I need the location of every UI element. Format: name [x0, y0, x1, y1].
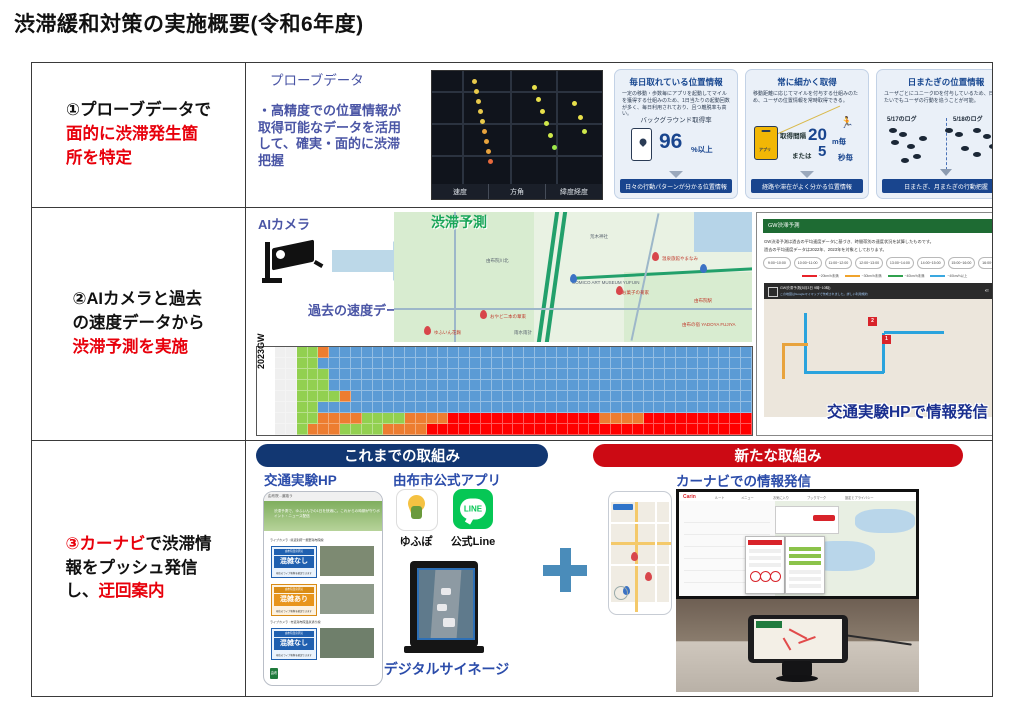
ai-camera-label: AIカメラ [258, 214, 310, 233]
heatmap-cell [654, 424, 665, 435]
heatmap-cell [373, 380, 384, 391]
heatmap-cell [611, 358, 622, 369]
heatmap-cell [405, 424, 416, 435]
heatmap-cell [600, 413, 611, 424]
heatmap-cell [351, 358, 362, 369]
heatmap-cell [405, 358, 416, 369]
heatmap-cell [438, 391, 449, 402]
heatmap-cell [719, 347, 730, 358]
heatmap-cell [362, 369, 373, 380]
heatmap-cell [644, 424, 655, 435]
heatmap-cell [427, 380, 438, 391]
heatmap-cell [470, 391, 481, 402]
heatmap-cell [546, 358, 557, 369]
yufupo-caption: ゆふぽ [386, 533, 446, 549]
heatmap-cell [709, 380, 720, 391]
heatmap-cell [579, 358, 590, 369]
time-slot-4[interactable]: 13:00~14:00 [886, 257, 914, 269]
heatmap-cell [340, 391, 351, 402]
heatmap-cell [427, 369, 438, 380]
heatmap-cell [373, 369, 384, 380]
digital-signage-image [404, 561, 484, 657]
legend-latlon: 緯度経度 [546, 184, 602, 199]
heatmap-cell [741, 380, 752, 391]
map-marker-1[interactable]: 1 [882, 335, 891, 344]
heatmap-cell [492, 402, 503, 413]
heatmap-cell [535, 369, 546, 380]
carnav-brand: Carin [683, 494, 696, 500]
heatmap-cell [405, 380, 416, 391]
popup-panel-right [785, 536, 825, 594]
heatmap-cell [589, 369, 600, 380]
heatmap-cell [470, 347, 481, 358]
heatmap-cell [633, 402, 644, 413]
heatmap-cell [741, 391, 752, 402]
app-phone-icon: アプリ [754, 126, 778, 160]
share-icon[interactable]: ⇚ [985, 288, 989, 294]
row2-label-cell: ②AIカメラと過去 の速度データから 渋滞予測を実施 [32, 208, 246, 440]
heatmap-cell [568, 402, 579, 413]
heatmap-cell [286, 413, 297, 424]
badge-top: 由布院温泉周辺 [274, 631, 314, 637]
heatmap-grid [275, 347, 752, 435]
heatmap-cell [557, 380, 568, 391]
search-icon[interactable] [614, 586, 628, 600]
heatmap-cell [633, 347, 644, 358]
info-card-crossday: 日またぎの位置情報 ユーザごとにユニークIDを付与しているため、日をまたいでもユ… [876, 69, 992, 199]
heatmap-cell [730, 347, 741, 358]
heatmap-cell [481, 358, 492, 369]
heatmap-cell [329, 413, 340, 424]
heatmap-cell [524, 369, 535, 380]
heatmap-cell [329, 347, 340, 358]
heatmap-cell [676, 358, 687, 369]
legend-speed: 速度 [432, 184, 489, 199]
heatmap-cell [362, 358, 373, 369]
heatmap-cell [524, 424, 535, 435]
heatmap-cell [676, 424, 687, 435]
webpage-header: GW渋滞予測 [763, 219, 992, 233]
heatmap-cell [579, 413, 590, 424]
heatmap-cell [665, 380, 676, 391]
probe-body: ・高精度での位置情報が取得可能なデータを活用して、確実・面的に渋滞把握 [258, 103, 408, 170]
heatmap-cell [665, 424, 676, 435]
heatmap-cell [275, 347, 286, 358]
heatmap-cell [719, 369, 730, 380]
map-place-2: 温泉旅館やまなみ [662, 256, 698, 262]
heatmap-cell [730, 424, 741, 435]
heatmap-cell [297, 358, 308, 369]
speed-heatmap: 2023GW [256, 346, 753, 436]
heatmap-cell [459, 369, 470, 380]
heatmap-cell [654, 402, 665, 413]
heatmap-cell [394, 413, 405, 424]
menu-item-2[interactable]: お気に入り [773, 495, 789, 500]
phone-url-bar: 由布院...道路ラ [264, 492, 382, 501]
heatmap-cell [297, 413, 308, 424]
heatmap-cell [438, 358, 449, 369]
sublabel-traffic-hp: 交通実験HP [264, 469, 337, 489]
webpage-map[interactable]: GW渋滞予測(5月3日 9時~10時) この地図はGoogleマイマップで作成さ… [764, 283, 992, 417]
heatmap-cell [644, 413, 655, 424]
heatmap-cell [448, 358, 459, 369]
heatmap-cell [362, 424, 373, 435]
heatmap-cell [557, 413, 568, 424]
heatmap-cell [459, 424, 470, 435]
heatmap-cell [383, 380, 394, 391]
heatmap-cell [459, 413, 470, 424]
heatmap-cell [611, 413, 622, 424]
heatmap-cell [513, 402, 524, 413]
heatmap-cell [340, 358, 351, 369]
heatmap-cell [730, 391, 741, 402]
heatmap-cell [600, 424, 611, 435]
heatmap-cell [546, 402, 557, 413]
heatmap-cell [698, 380, 709, 391]
heatmap-cell [351, 413, 362, 424]
yufupo-app-icon[interactable] [396, 489, 438, 531]
heatmap-cell [308, 369, 319, 380]
card1-unit: %以上 [691, 144, 713, 155]
heatmap-cell [329, 391, 340, 402]
table-row: ①プローブデータで 面的に渋滞発生箇 所を特定 プローブデータ ・高精度での位置… [32, 63, 992, 208]
info-card-daily-location: 毎日取れている位置情報 一定の移動・歩数毎にアプリを起動してマイルを獲得する仕組… [614, 69, 738, 199]
heatmap-cell [611, 347, 622, 358]
heatmap-cell [633, 369, 644, 380]
heatmap-cell [709, 347, 720, 358]
heatmap-cell [644, 402, 655, 413]
phone-section2: ライブカメラ : 市道湯布院温泉通り線 [270, 620, 321, 624]
heatmap-cell [622, 347, 633, 358]
card1-value: 96 [659, 130, 682, 154]
heatmap-cell [416, 380, 427, 391]
heatmap-cell [470, 413, 481, 424]
heatmap-cell [503, 369, 514, 380]
heatmap-cell [524, 380, 535, 391]
heatmap-cell [351, 402, 362, 413]
heatmap-cell [470, 358, 481, 369]
heatmap-cell [383, 402, 394, 413]
heatmap-cell [405, 413, 416, 424]
row1-label-cell: ①プローブデータで 面的に渋滞発生箇 所を特定 [32, 63, 246, 207]
popup-panel-left [745, 536, 785, 594]
menu-item-3[interactable]: ブックマーク [807, 495, 826, 500]
legend-direction: 方角 [489, 184, 546, 199]
heatmap-cell [394, 347, 405, 358]
speed-legend: ~20km/h未満~30km/h未満~40km/h未満~40km/h以上 [769, 273, 992, 278]
map-place-4: お菓子の菊家 [622, 290, 649, 296]
iphone-map-mockup [608, 491, 672, 615]
heatmap-cell [481, 424, 492, 435]
iphone-map-tab[interactable] [613, 504, 633, 510]
heatmap-cell [719, 402, 730, 413]
heatmap-cell [383, 347, 394, 358]
map-title: GW渋滞予測(5月3日 9時~10時) [780, 286, 830, 291]
heatmap-cell [275, 380, 286, 391]
heatmap-cell [340, 369, 351, 380]
probe-heading: プローブデータ [258, 69, 408, 89]
heatmap-cell [416, 413, 427, 424]
heatmap-cell [503, 358, 514, 369]
heatmap-cell [741, 402, 752, 413]
heatmap-cell [546, 380, 557, 391]
heatmap-cell [318, 369, 329, 380]
heatmap-cell [535, 391, 546, 402]
heatmap-cell [286, 380, 297, 391]
heatmap-cell [719, 391, 730, 402]
heatmap-cell [416, 402, 427, 413]
time-slot-5[interactable]: 14:00~15:00 [917, 257, 945, 269]
heatmap-cell [470, 424, 481, 435]
menu-icon[interactable] [768, 287, 778, 297]
down-triangle-icon [669, 171, 683, 178]
heatmap-cell [503, 380, 514, 391]
map-place-5: 由布院駅 [694, 298, 712, 304]
heatmap-cell [730, 380, 741, 391]
card1-title: 毎日取れている位置情報 [622, 76, 730, 88]
heatmap-cell [362, 380, 373, 391]
heatmap-cell [665, 391, 676, 402]
heatmap-cell [687, 402, 698, 413]
map-note: この地図はGoogleマイマップで作成されました。詳しい利用規約 [780, 292, 868, 296]
map-place-3: COMICO ART MUSEUM YUFUIN [572, 280, 640, 285]
heatmap-cell [709, 402, 720, 413]
heatmap-cell [546, 347, 557, 358]
heatmap-cell [297, 347, 308, 358]
heatmap-cell [448, 369, 459, 380]
row3-label-line3a: し、 [66, 582, 99, 600]
heatmap-cell [340, 424, 351, 435]
heatmap-cell [513, 358, 524, 369]
heatmap-cell [308, 358, 319, 369]
heatmap-cell [351, 424, 362, 435]
card2-desc: 移動距離に応じてマイルを付与する仕組みのため、ユーザの位置情報を常時取得できる。 [753, 91, 861, 105]
heatmap-cell [633, 391, 644, 402]
heatmap-cell [513, 369, 524, 380]
heatmap-cell [329, 402, 340, 413]
time-slot-1[interactable]: 10:00~11:00 [794, 257, 822, 269]
row2-label-line2: の速度データから [73, 314, 205, 332]
heatmap-cell [318, 358, 329, 369]
heatmap-cell [275, 402, 286, 413]
heatmap-cell [644, 347, 655, 358]
badge-note: 現在のライブ映像を確認できます [274, 653, 314, 657]
heatmap-cell [654, 358, 665, 369]
heatmap-cell [373, 347, 384, 358]
heatmap-cell [654, 413, 665, 424]
heatmap-cell [481, 402, 492, 413]
slide: 渋滞緩和対策の実施概要(令和6年度) ①プローブデータで 面的に渋滞発生箇 所を… [0, 0, 1024, 709]
heatmap-cell [481, 391, 492, 402]
heatmap-cell [535, 358, 546, 369]
cctv-camera-icon [262, 238, 322, 286]
heatmap-cell [611, 424, 622, 435]
map-place-8: 由布の宿 YADOYA FUJIYA [682, 322, 736, 328]
time-slot-7[interactable]: 16:00~17:00 [978, 257, 992, 269]
heatmap-cell [373, 413, 384, 424]
heatmap-cell [394, 424, 405, 435]
row3-label-cell: ③カーナビで渋滞情 報をプッシュ発信 し、迂回案内 [32, 441, 246, 696]
heatmap-cell [568, 369, 579, 380]
heatmap-cell [535, 413, 546, 424]
card2-unit1: m毎 [832, 136, 846, 147]
heatmap-cell [448, 391, 459, 402]
heatmap-cell [557, 347, 568, 358]
heatmap-cell [644, 369, 655, 380]
card2-app-label: アプリ [759, 147, 771, 153]
page-title: 渋滞緩和対策の実施概要(令和6年度) [14, 8, 364, 38]
heatmap-cell [318, 402, 329, 413]
heatmap-cell [622, 369, 633, 380]
heatmap-cell [524, 391, 535, 402]
heatmap-cell [275, 424, 286, 435]
heatmap-cell [340, 347, 351, 358]
line-app-icon[interactable]: LINE [453, 489, 493, 529]
heatmap-cell [611, 391, 622, 402]
menu-item-0[interactable]: ルート [715, 495, 725, 500]
menu-item-1[interactable]: メニュー [741, 495, 754, 500]
heatmap-cell [687, 358, 698, 369]
heatmap-cell [524, 358, 535, 369]
heatmap-cell [286, 347, 297, 358]
heatmap-cell [416, 347, 427, 358]
webpage-line2: 過去の平均速度データは2022年、2023年を対象としております。 [764, 247, 992, 253]
card3-pill: 日またぎ、月またぎの行動把握 [882, 179, 992, 193]
heatmap-cell [568, 391, 579, 402]
heatmap-cell [524, 402, 535, 413]
heatmap-cell [459, 380, 470, 391]
card3-desc: ユーザごとにユニークIDを付与しているため、日をまたいでもユーザの行動を追うこと… [884, 91, 992, 105]
heatmap-cell [297, 369, 308, 380]
heatmap-cell [318, 391, 329, 402]
heatmap-cell [730, 358, 741, 369]
heatmap-cell [340, 413, 351, 424]
time-slot-3[interactable]: 12:00~13:00 [855, 257, 883, 269]
heatmap-cell [709, 413, 720, 424]
heatmap-cell [383, 369, 394, 380]
heatmap-cell [427, 424, 438, 435]
heatmap-cell [373, 391, 384, 402]
heatmap-cell [394, 369, 405, 380]
time-slot-6[interactable]: 15:00~16:00 [948, 257, 976, 269]
heatmap-cell [568, 347, 579, 358]
phone-footer-banner[interactable]: 由布院周辺の渋滞を避けた駐車場・迂回路の紹介 [270, 668, 278, 679]
heatmap-cell [709, 424, 720, 435]
heatmap-cell [297, 402, 308, 413]
heatmap-cell [698, 347, 709, 358]
heatmap-cell [622, 358, 633, 369]
heatmap-cell [600, 391, 611, 402]
heatmap-cell [741, 413, 752, 424]
heatmap-cell [383, 358, 394, 369]
heatmap-cell [503, 347, 514, 358]
heatmap-cell [665, 358, 676, 369]
heatmap-cell [654, 391, 665, 402]
heatmap-cell [622, 413, 633, 424]
heatmap-cell [373, 358, 384, 369]
time-slot-0[interactable]: 9:00~10:00 [763, 257, 791, 269]
heatmap-cell [665, 413, 676, 424]
heatmap-cell [654, 380, 665, 391]
heatmap-cell [340, 402, 351, 413]
map-marker-2[interactable]: 2 [868, 317, 877, 326]
heatmap-cell [513, 424, 524, 435]
heatmap-cell [633, 413, 644, 424]
heatmap-cell [676, 391, 687, 402]
heatmap-cell [459, 347, 470, 358]
heatmap-cell [308, 391, 319, 402]
runner-icon: 🏃 [840, 116, 854, 129]
heatmap-cell [524, 413, 535, 424]
status-badge: 由布院温泉周辺 混雑なし 現在のライブ映像を確認できます [271, 628, 317, 660]
row3-content-cell: これまでの取組み 新たな取組み 交通実験HP 由布市公式アプリ カーナビでの情報… [246, 441, 992, 696]
heatmap-cell [503, 402, 514, 413]
heatmap-cell [405, 369, 416, 380]
heatmap-cell [351, 391, 362, 402]
info-card-fine-grained: 常に細かく取得 移動距離に応じてマイルを付与する仕組みのため、ユーザの位置情報を… [745, 69, 869, 199]
row3-label-line1a: ③ [66, 535, 80, 553]
row1-label-line2: 面的に渋滞発生箇 [66, 125, 198, 143]
heatmap-cell [579, 402, 590, 413]
heatmap-cell [579, 424, 590, 435]
heatmap-cell [730, 369, 741, 380]
sublabel-carnav: カーナビでの情報発信 [676, 470, 811, 490]
time-slot-buttons[interactable]: 9:00~10:0010:00~11:0011:00~12:0012:00~13… [763, 257, 992, 269]
row1-label-line3: 所を特定 [66, 149, 132, 167]
heatmap-cell [275, 358, 286, 369]
heatmap-cell [719, 358, 730, 369]
heatmap-cell [687, 347, 698, 358]
badge-note: 現在のライブ映像を確認できます [274, 609, 314, 613]
heatmap-cell [579, 369, 590, 380]
heatmap-cell [481, 369, 492, 380]
heatmap-cell [308, 413, 319, 424]
heatmap-cell [644, 380, 655, 391]
heatmap-cell [503, 391, 514, 402]
heatmap-cell [448, 424, 459, 435]
heatmap-cell [546, 413, 557, 424]
row3-label-kanavi: カーナビ [79, 535, 145, 553]
time-slot-2[interactable]: 11:00~12:00 [825, 257, 853, 269]
probe-text-block: プローブデータ ・高精度での位置情報が取得可能なデータを活用して、確実・面的に渋… [258, 69, 408, 170]
heatmap-cell [383, 413, 394, 424]
heatmap-cell [394, 391, 405, 402]
heatmap-cell [481, 380, 492, 391]
heatmap-cell [383, 424, 394, 435]
card1-pill: 日々の行動パターンが分かる位置情報 [620, 179, 732, 193]
heatmap-cell [719, 380, 730, 391]
legend-entry-1: ~30km/h未満 [845, 273, 882, 278]
heatmap-cell [340, 380, 351, 391]
menu-item-4[interactable]: 設定とプライバシー [845, 495, 874, 500]
heatmap-cell [492, 391, 503, 402]
heatmap-cell [318, 424, 329, 435]
phone-hero-text: 渋滞予測で、ゆふいんでの1日を快適に。これからの時期が守りポイント・ニュース配信 [274, 509, 382, 519]
heatmap-cell [557, 391, 568, 402]
heatmap-cell [438, 402, 449, 413]
heatmap-cell [579, 347, 590, 358]
badge-top: 由布院温泉周辺 [274, 587, 314, 593]
heatmap-cell [297, 391, 308, 402]
heatmap-cell [622, 424, 633, 435]
heatmap-cell [275, 391, 286, 402]
carnav-admin-screen: Carin ルート メニュー お気に入り ブックマーク 設定とプライバシー [676, 489, 919, 599]
heatmap-cell [362, 391, 373, 402]
down-arrow-icon [940, 169, 952, 176]
heatmap-cell [644, 358, 655, 369]
heatmap-cell [351, 380, 362, 391]
heatmap-cell [568, 424, 579, 435]
